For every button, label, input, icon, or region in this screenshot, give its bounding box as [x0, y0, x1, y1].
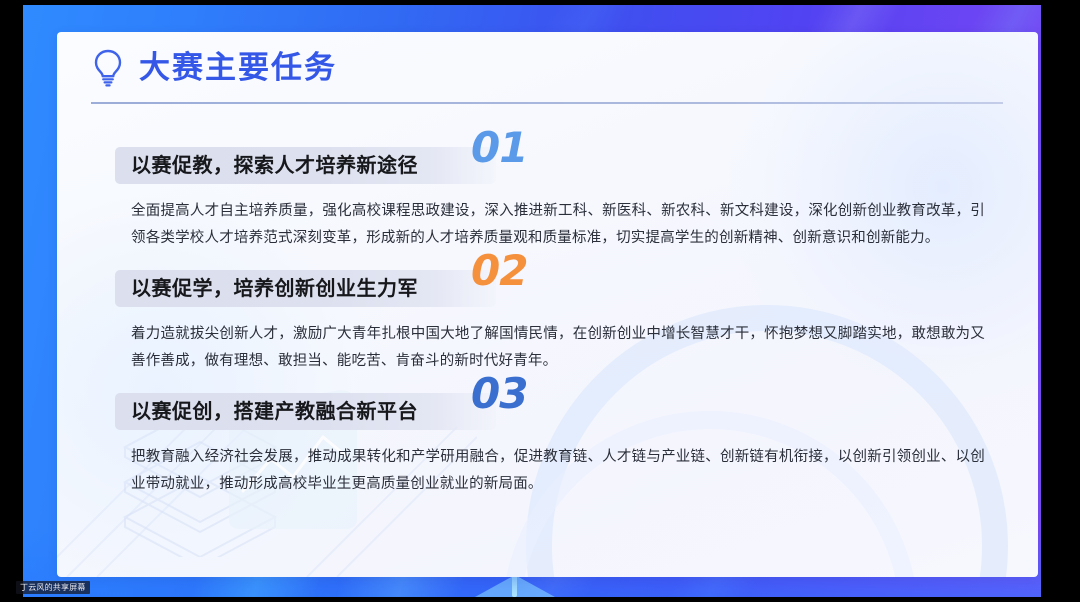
slide-frame: 大赛主要任务 以赛促教，探索人才培养新途径 01 全面提高人才自主培养质量，强化…	[23, 5, 1041, 597]
task-header-02: 以赛促学，培养创新创业生力军 02	[57, 270, 1038, 307]
task-header-03: 以赛促创，搭建产教融合新平台 03	[57, 393, 1038, 430]
task-item-01: 以赛促教，探索人才培养新途径 01 全面提高人才自主培养质量，强化高校课程思政建…	[57, 147, 1038, 252]
task-item-02: 以赛促学，培养创新创业生力军 02 着力造就拔尖创新人才，激励广大青年扎根中国大…	[57, 270, 1038, 375]
task-number-02: 02	[471, 250, 527, 292]
bottom-triangle-marker	[475, 575, 555, 597]
task-title-01: 以赛促教，探索人才培养新途径	[131, 147, 418, 184]
task-title-02: 以赛促学，培养创新创业生力军	[131, 270, 418, 307]
screen-stage: 大赛主要任务 以赛促教，探索人才培养新途径 01 全面提高人才自主培养质量，强化…	[0, 0, 1080, 602]
task-item-03: 以赛促创，搭建产教融合新平台 03 把教育融入经济社会发展，推动成果转化和产学研…	[57, 393, 1038, 498]
task-header-01: 以赛促教，探索人才培养新途径 01	[57, 147, 1038, 184]
title-divider	[91, 102, 1003, 104]
task-body-02: 着力造就拔尖创新人才，激励广大青年扎根中国大地了解国情民情，在创新创业中增长智慧…	[57, 321, 1038, 375]
slide-title-row: 大赛主要任务	[91, 48, 337, 88]
task-body-01: 全面提高人才自主培养质量，强化高校课程思政建设，深入推进新工科、新医科、新农科、…	[57, 198, 1038, 252]
task-number-03: 03	[471, 373, 527, 415]
page-title: 大赛主要任务	[139, 53, 337, 84]
screen-share-watermark: 丁云风的共享屏幕	[16, 581, 90, 594]
task-number-01: 01	[471, 127, 527, 169]
slide-content-card: 大赛主要任务 以赛促教，探索人才培养新途径 01 全面提高人才自主培养质量，强化…	[57, 32, 1038, 577]
task-title-03: 以赛促创，搭建产教融合新平台	[131, 393, 418, 430]
lightbulb-icon	[91, 48, 125, 88]
task-body-03: 把教育融入经济社会发展，推动成果转化和产学研用融合，促进教育链、人才链与产业链、…	[57, 444, 1038, 498]
task-list: 以赛促教，探索人才培养新途径 01 全面提高人才自主培养质量，强化高校课程思政建…	[57, 147, 1038, 498]
